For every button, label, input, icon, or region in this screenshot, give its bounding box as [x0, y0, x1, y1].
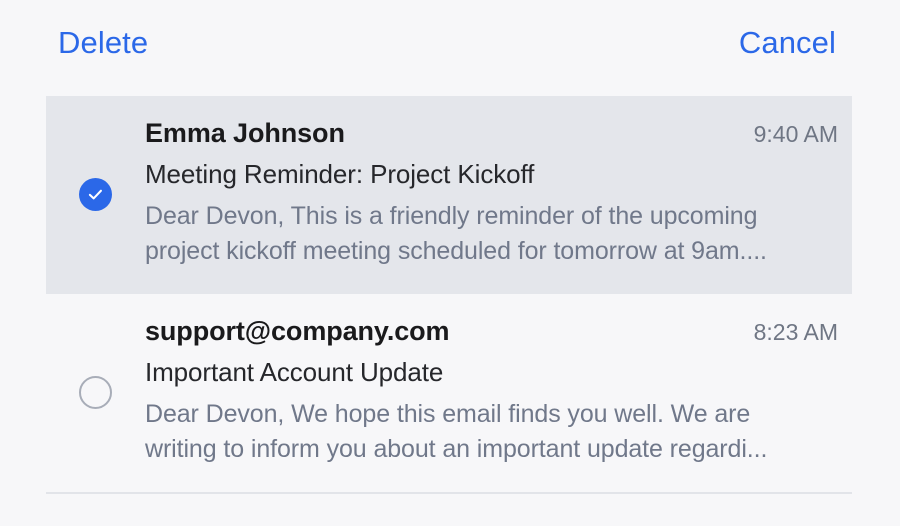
checkbox-column — [46, 374, 145, 409]
email-header-line: Emma Johnson 9:40 AM — [145, 118, 838, 149]
email-content: support@company.com 8:23 AM Important Ac… — [145, 316, 852, 468]
check-circle-filled-icon[interactable] — [79, 178, 112, 211]
email-list: Emma Johnson 9:40 AM Meeting Reminder: P… — [0, 96, 900, 494]
email-selection-screen: Delete Cancel Emma Johnson 9:40 AM Meeti… — [0, 0, 900, 526]
email-header-line: support@company.com 8:23 AM — [145, 316, 838, 347]
cancel-button[interactable]: Cancel — [739, 27, 836, 58]
email-sender: support@company.com — [145, 316, 449, 347]
checkbox-column — [46, 176, 145, 211]
action-bar: Delete Cancel — [0, 0, 900, 84]
email-timestamp: 8:23 AM — [754, 319, 838, 346]
email-subject: Meeting Reminder: Project Kickoff — [145, 159, 838, 189]
email-sender: Emma Johnson — [145, 118, 345, 149]
email-preview: Dear Devon, We hope this email finds you… — [145, 397, 805, 468]
email-preview: Dear Devon, This is a friendly reminder … — [145, 199, 805, 270]
checkmark-glyph — [87, 186, 104, 203]
email-content: Emma Johnson 9:40 AM Meeting Reminder: P… — [145, 118, 852, 270]
email-subject: Important Account Update — [145, 357, 838, 387]
circle-outline-icon[interactable] — [79, 376, 112, 409]
email-timestamp: 9:40 AM — [754, 121, 838, 148]
email-list-item[interactable]: support@company.com 8:23 AM Important Ac… — [46, 294, 852, 492]
email-list-item[interactable]: Emma Johnson 9:40 AM Meeting Reminder: P… — [46, 96, 852, 294]
delete-button[interactable]: Delete — [58, 27, 148, 58]
list-divider — [46, 492, 852, 494]
